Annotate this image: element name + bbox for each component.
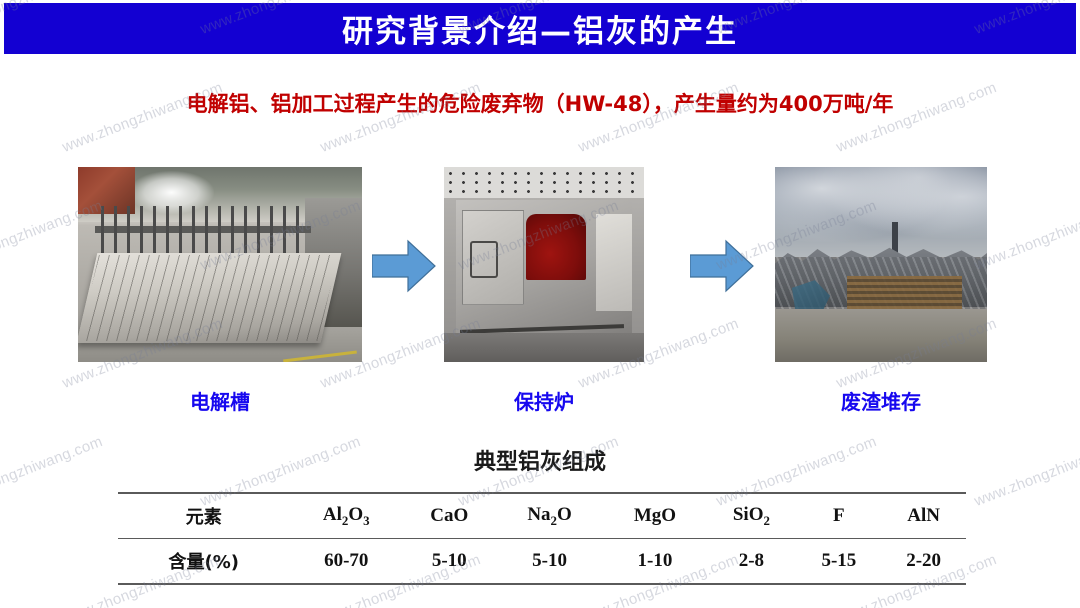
cell-hood-ribs bbox=[79, 255, 337, 341]
page-title: 研究背景介绍—铝灰的产生 bbox=[342, 6, 738, 51]
furnace-door-handle bbox=[470, 241, 498, 278]
photo-content bbox=[444, 167, 644, 362]
table-title: 典型铝灰组成 bbox=[0, 444, 1080, 476]
table-cell-cao: 5-10 bbox=[403, 539, 495, 585]
slide-subtitle: 电解铝、铝加工过程产生的危险废弃物（HW-48），产生量约为400万吨/年 bbox=[0, 88, 1080, 118]
photo-content bbox=[78, 167, 362, 362]
table-cell-na2o: 5-10 bbox=[495, 539, 603, 585]
watermark-text: www.zhongzhiwang.com bbox=[972, 197, 1080, 274]
slide-title-bar: 研究背景介绍—铝灰的产生 bbox=[4, 3, 1076, 54]
perforation-holes bbox=[444, 169, 644, 194]
table-row-label: 含量(%) bbox=[118, 539, 289, 585]
table-cell-sio2: 2-8 bbox=[706, 539, 796, 585]
flow-arrow-1-icon bbox=[372, 238, 436, 294]
furnace-hot-opening bbox=[526, 214, 586, 280]
flow-arrow-2-icon bbox=[690, 238, 754, 294]
table-header-sio2: SiO2 bbox=[706, 493, 796, 539]
caption-slag-storage: 废渣堆存 bbox=[775, 386, 987, 415]
table-cell-mgo: 1-10 bbox=[604, 539, 707, 585]
table-cell-al2o3: 60-70 bbox=[289, 539, 403, 585]
table-header-al2o3: Al2O3 bbox=[289, 493, 403, 539]
table-header-na2o: Na2O bbox=[495, 493, 603, 539]
furnace-side-panel bbox=[596, 214, 632, 312]
table-cell-f: 5-15 bbox=[797, 539, 882, 585]
holding-furnace-photo bbox=[444, 167, 644, 362]
photo-content bbox=[775, 167, 987, 362]
ground bbox=[775, 309, 987, 362]
table-row: 含量(%) 60-70 5-10 5-10 1-10 2-8 5-15 2-20 bbox=[118, 539, 966, 585]
table-header-element: 元素 bbox=[118, 493, 289, 539]
distant-tower bbox=[892, 222, 898, 253]
table-header-row: 元素 Al2O3 CaO Na2O MgO SiO2 F AlN bbox=[118, 493, 966, 539]
slag-storage-photo bbox=[775, 167, 987, 362]
furnace-base bbox=[444, 333, 644, 362]
table-header-aln: AlN bbox=[881, 493, 966, 539]
electrolysis-cell-photo bbox=[78, 167, 362, 362]
table-cell-aln: 2-20 bbox=[881, 539, 966, 585]
caption-electrolysis-cell: 电解槽 bbox=[78, 386, 362, 415]
clouds bbox=[775, 167, 987, 257]
composition-table: 元素 Al2O3 CaO Na2O MgO SiO2 F AlN 含量(%) 6… bbox=[118, 492, 966, 585]
caption-holding-furnace: 保持炉 bbox=[444, 386, 644, 415]
table-header-mgo: MgO bbox=[604, 493, 707, 539]
table-header-f: F bbox=[797, 493, 882, 539]
table-header-cao: CaO bbox=[403, 493, 495, 539]
